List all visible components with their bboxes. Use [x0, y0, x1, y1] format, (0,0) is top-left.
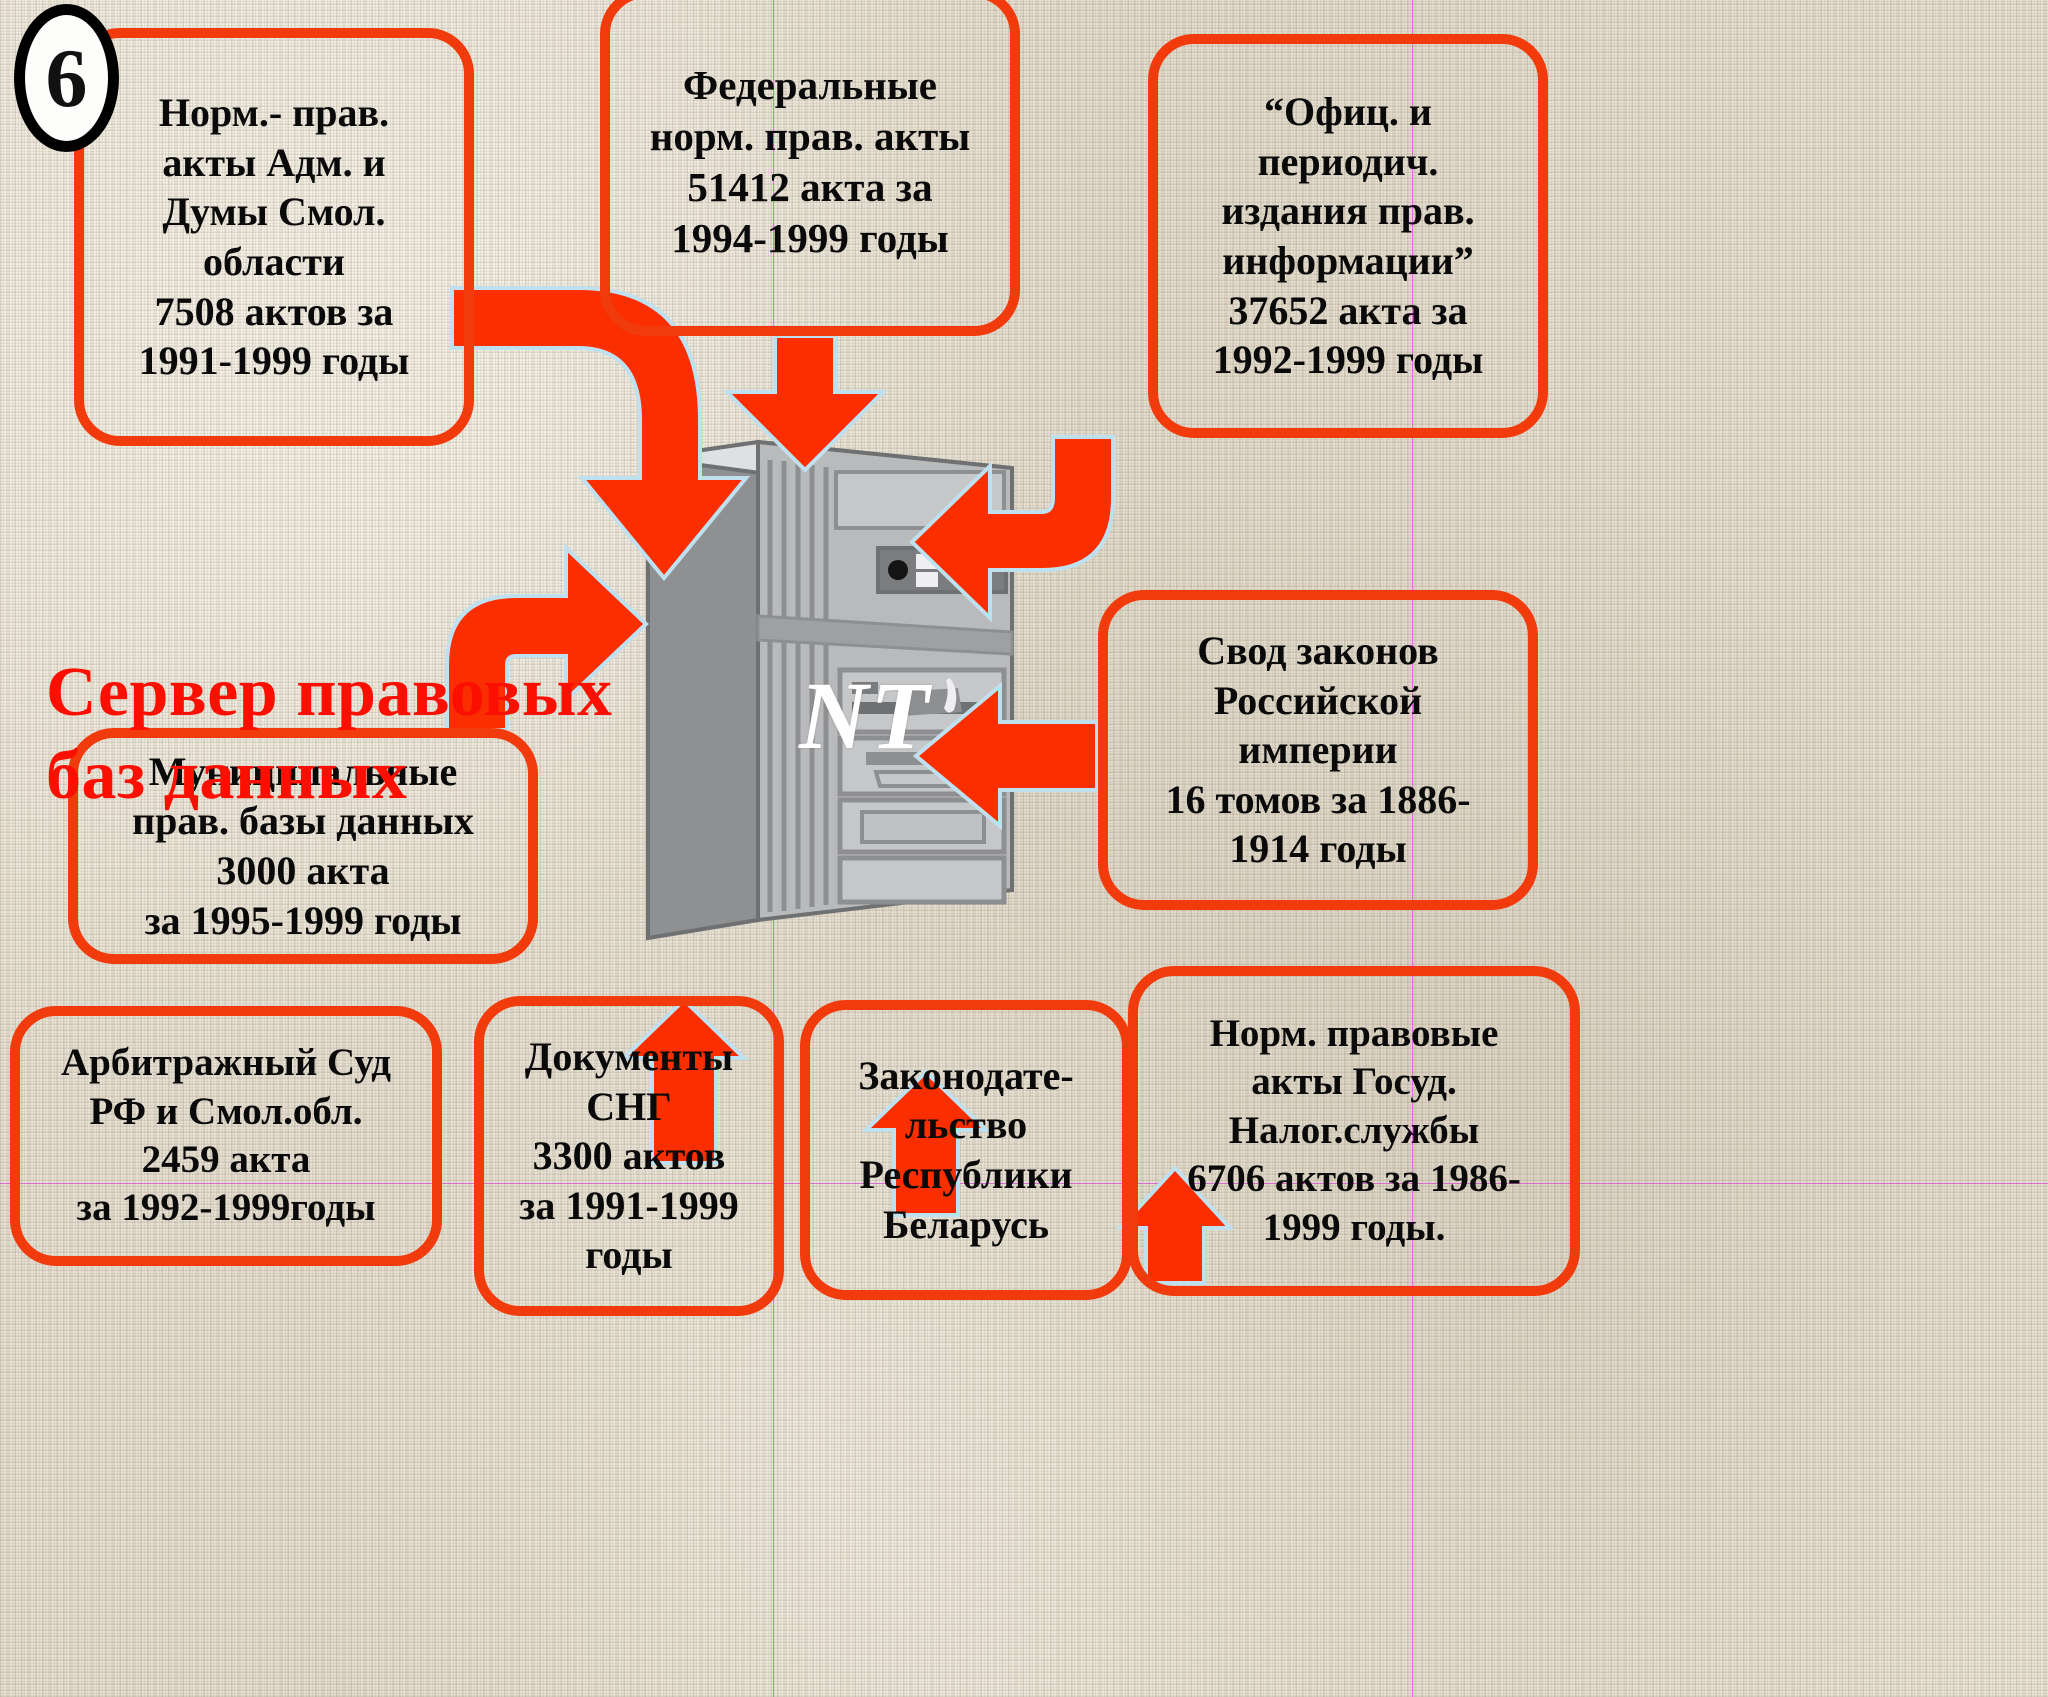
- box-tax-service-acts[interactable]: Норм. правовые акты Госуд. Налог.службы …: [1128, 966, 1580, 1296]
- box-line: за 1991-1999: [519, 1181, 738, 1231]
- box-line: норм. прав. акты: [650, 111, 971, 162]
- box-line: за 1995-1999 годы: [145, 896, 462, 946]
- box-line: Российской: [1214, 676, 1422, 726]
- box-line: 1991-1999 годы: [139, 336, 410, 386]
- box-line: РФ и Смол.обл.: [89, 1088, 362, 1136]
- box-line: 2459 акта: [142, 1136, 311, 1184]
- box-line: акты Адм. и: [162, 138, 385, 188]
- box-federal-acts[interactable]: Федеральные норм. прав. акты 51412 акта …: [600, 0, 1020, 336]
- box-line: Законодате-: [858, 1051, 1073, 1101]
- box-line: 1999 годы.: [1263, 1204, 1446, 1252]
- box-line: 3000 акта: [216, 846, 389, 896]
- box-line: 6706 актов за 1986-: [1187, 1155, 1521, 1203]
- box-line: Налог.службы: [1229, 1107, 1480, 1155]
- box-line: Документы: [525, 1032, 733, 1082]
- page-title: Сервер правовых баз данных: [46, 652, 686, 817]
- box-arbitration-court[interactable]: Арбитражный Суд РФ и Смол.обл. 2459 акта…: [10, 1006, 442, 1266]
- box-line: Республики: [859, 1150, 1072, 1200]
- box-line: 1914 годы: [1229, 824, 1406, 874]
- box-belarus-legislation[interactable]: Законодате- льство Республики Беларусь: [800, 1000, 1132, 1300]
- page-title-line-2: баз данных: [46, 737, 407, 814]
- box-line: 1994-1999 годы: [671, 213, 949, 264]
- box-official-periodic[interactable]: “Офиц. и периодич. издания прав. информа…: [1148, 34, 1548, 438]
- box-line: СНГ: [586, 1082, 671, 1132]
- box-adm-duma-smolensk[interactable]: Норм.- прав. акты Адм. и Думы Смол. обла…: [74, 28, 474, 446]
- box-line: Федеральные: [683, 60, 937, 111]
- box-line: 7508 актов за: [155, 287, 394, 337]
- server-nt-logo: NT: [760, 660, 970, 771]
- box-line: 1992-1999 годы: [1213, 335, 1484, 385]
- box-line: 16 томов за 1886-: [1165, 775, 1470, 825]
- slide-number-badge: 6: [14, 4, 119, 152]
- box-line: акты Госуд.: [1251, 1058, 1457, 1106]
- page-title-line-1: Сервер правовых: [46, 654, 613, 731]
- box-cis-documents[interactable]: Документы СНГ 3300 актов за 1991-1999 го…: [474, 996, 784, 1316]
- box-line: информации”: [1222, 236, 1474, 286]
- box-line: за 1992-1999годы: [76, 1184, 375, 1232]
- box-line: Беларусь: [883, 1200, 1049, 1250]
- box-line: Норм. правовые: [1210, 1010, 1499, 1058]
- box-russian-empire-laws[interactable]: Свод законов Российской империи 16 томов…: [1098, 590, 1538, 910]
- box-line: области: [203, 237, 345, 287]
- box-line: 37652 акта за: [1228, 286, 1467, 336]
- box-line: Норм.- прав.: [159, 88, 389, 138]
- box-line: 51412 акта за: [687, 162, 932, 213]
- box-line: империи: [1238, 725, 1397, 775]
- box-line: годы: [585, 1230, 672, 1280]
- box-line: Свод законов: [1197, 626, 1439, 676]
- box-line: издания прав.: [1221, 186, 1474, 236]
- box-line: Думы Смол.: [163, 187, 386, 237]
- box-line: льство: [905, 1100, 1027, 1150]
- box-line: периодич.: [1258, 137, 1439, 187]
- box-line: 3300 актов: [533, 1131, 726, 1181]
- box-line: “Офиц. и: [1264, 87, 1432, 137]
- box-line: Арбитражный Суд: [61, 1039, 391, 1087]
